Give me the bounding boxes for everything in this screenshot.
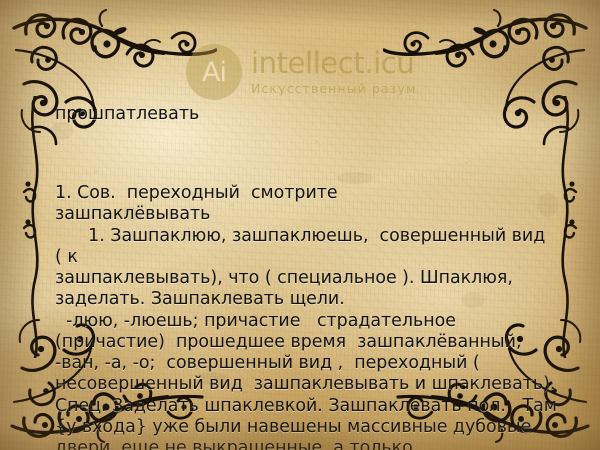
dictionary-entry-text: прошпатлевать 1. Сов. переходный смотрит… bbox=[55, 62, 561, 450]
entry-body: 1. Сов. переходный смотрите зашпаклёвыва… bbox=[55, 183, 561, 450]
page-title: прошпатлевать bbox=[55, 104, 561, 125]
parchment-card: Ai intellect.icu Искусственный разум про… bbox=[0, 0, 600, 450]
border-left-wavy-icon bbox=[22, 96, 48, 358]
